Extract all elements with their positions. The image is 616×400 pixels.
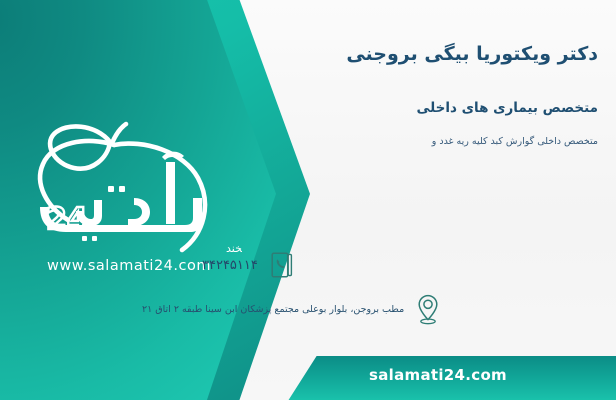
phone-row[interactable]: ۳۴۲۴۵۱۱۴ [202,248,602,282]
logo-24: 24 [46,202,88,237]
svg-text:24: 24 [46,202,88,237]
location-pin-icon [413,292,443,326]
doctor-profile-card: 24 براحتی یک لبخند www.salamati24.com دک… [0,0,616,400]
phone-number: ۳۴۲۴۵۱۱۴ [202,258,258,273]
doctor-specialty: متخصص بیماری های داخلی [298,100,598,118]
phone-book-icon [267,248,297,282]
address-row[interactable]: مطب بروجن، بلوار بوعلی مجتمع پزشکان ابن … [142,292,602,326]
logo-website: www.salamati24.com [47,258,211,272]
doctor-name: دکتر ویکتوریا بیگی بروجنی [298,42,598,67]
footer-bar[interactable]: salamati24.com [286,356,616,400]
doctor-description: متخصص داخلی گوارش کبد کلیه ریه غدد و [268,135,598,148]
address-text: مطب بروجن، بلوار بوعلی مجتمع پزشکان ابن … [142,304,404,315]
footer-website: salamati24.com [369,366,507,384]
